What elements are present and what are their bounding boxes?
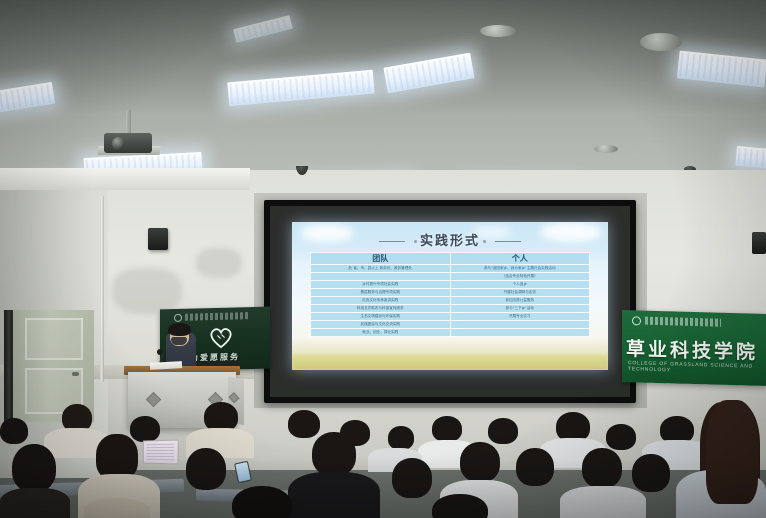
title-dot-left xyxy=(414,240,417,243)
cell-individual: 开展专业实习 xyxy=(450,313,590,321)
audience-shoulders xyxy=(288,472,380,518)
audience-head xyxy=(84,498,150,518)
cell-team: 科技支农助农与科普宣传服务 xyxy=(311,305,451,313)
title-dot-right xyxy=(483,240,486,243)
audience-smartphone[interactable] xyxy=(234,461,252,483)
presenter-hair xyxy=(168,323,191,336)
cell-team: 乡村振兴专项社会实践 xyxy=(311,281,451,289)
slide-title-text: 实践形式 xyxy=(420,234,480,249)
cell-individual: 个人返乡 xyxy=(450,281,590,289)
university-seal-icon xyxy=(632,316,641,325)
projection-screen-frame: 实践形式 团队 个人 赴 省、市、县以上 政务处、政务管理处 参与"返回家乡、我… xyxy=(264,200,636,403)
banner-left-org-logo xyxy=(174,312,252,322)
wall-stain xyxy=(112,268,182,314)
microphone-icon xyxy=(157,349,163,355)
slide-table-head: 团队 个人 xyxy=(311,253,590,265)
audience-head xyxy=(392,458,432,498)
audience-head xyxy=(186,448,226,490)
audience-head xyxy=(432,416,462,442)
audience-head xyxy=(130,416,160,442)
table-header-row: 团队 个人 xyxy=(311,253,590,265)
lecture-hall-scene: 实践形式 团队 个人 赴 省、市、县以上 政务处、政务管理处 参与"返回家乡、我… xyxy=(0,0,766,518)
banner-left-org-text xyxy=(185,312,249,321)
seated-audience xyxy=(0,398,766,518)
cell-individual: 参加志愿公益服务 xyxy=(450,297,590,305)
wall-soffit xyxy=(0,168,250,190)
title-dash-left xyxy=(379,241,405,242)
wall-speaker xyxy=(148,228,168,250)
audience-head xyxy=(388,426,414,450)
audience-head xyxy=(606,424,636,450)
college-banner: 草业科技学院 COLLEGE OF GRASSLAND SCIENCE AND … xyxy=(622,310,766,386)
ceiling-dome-fixture xyxy=(640,33,682,51)
cell-individual: 参与"三下乡"活动 xyxy=(450,305,590,313)
college-banner-subtext: COLLEGE OF GRASSLAND SCIENCE AND TECHNOL… xyxy=(628,360,766,376)
cell-team: 赴 省、市、县以上 政务处、政务管理处 xyxy=(311,265,451,273)
cell-team xyxy=(311,273,451,281)
heart-hands-icon xyxy=(208,326,234,350)
audience-head xyxy=(516,448,554,486)
projection-screen-surface: 实践形式 团队 个人 赴 省、市、县以上 政务处、政务管理处 参与"返回家乡、我… xyxy=(270,206,630,397)
wall-stain xyxy=(196,248,242,278)
audience-shoulders xyxy=(0,488,70,518)
audience-head xyxy=(706,400,758,504)
university-seal-icon xyxy=(174,314,182,322)
table-row: 红色文化传承宣讲实践 参加志愿公益服务 xyxy=(311,297,590,305)
cell-individual: （结合专业特色开展） xyxy=(450,273,590,281)
table-row: 就业、创业、择业实践 xyxy=(311,329,590,337)
wall-speaker xyxy=(752,232,766,254)
cell-individual: 参与"返回家乡、我为家乡"主题社会实践活动 xyxy=(450,265,590,273)
table-row: 乡村振兴专项社会实践 个人返乡 xyxy=(311,281,590,289)
audience-head xyxy=(432,494,488,518)
college-banner-org-text xyxy=(645,317,721,327)
audience-laptop[interactable] xyxy=(143,439,179,464)
door-panel xyxy=(25,318,83,360)
column-header-individual: 个人 xyxy=(450,253,590,265)
cell-team: 红色文化传承宣讲实践 xyxy=(311,297,451,305)
ceiling-dome-fixture xyxy=(594,145,618,153)
cell-individual xyxy=(450,329,590,337)
audience-head xyxy=(232,486,292,518)
cell-team: 生态文明建设与环保实践 xyxy=(311,313,451,321)
title-dash-right xyxy=(495,241,521,242)
table-row: （结合专业特色开展） xyxy=(311,273,590,281)
audience-head xyxy=(312,432,356,476)
slide-table: 团队 个人 赴 省、市、县以上 政务处、政务管理处 参与"返回家乡、我为家乡"主… xyxy=(310,252,590,337)
audience-head xyxy=(582,448,622,488)
cell-team: 基层服务与治理专项实践 xyxy=(311,289,451,297)
ceiling-dome-fixture xyxy=(480,25,516,37)
door-handle[interactable] xyxy=(72,372,79,376)
slide-title: 实践形式 xyxy=(292,230,608,249)
presenter-face-mask xyxy=(171,337,187,345)
table-row: 生态文明建设与环保实践 开展专业实习 xyxy=(311,313,590,321)
projector-lens-icon xyxy=(112,137,125,150)
table-row: 科技支农助农与科普宣传服务 参与"三下乡"活动 xyxy=(311,305,590,313)
audience-head xyxy=(632,454,670,492)
column-header-team: 团队 xyxy=(311,253,451,265)
projected-slide: 实践形式 团队 个人 赴 省、市、县以上 政务处、政务管理处 参与"返回家乡、我… xyxy=(292,222,608,370)
table-row: 民族团结与文化交流实践 xyxy=(311,321,590,329)
audience-head xyxy=(0,418,28,444)
cell-individual xyxy=(450,321,590,329)
audience-head xyxy=(288,410,320,438)
audience-head xyxy=(460,442,500,482)
slide-table-body: 赴 省、市、县以上 政务处、政务管理处 参与"返回家乡、我为家乡"主题社会实践活… xyxy=(311,265,590,337)
cell-team: 民族团结与文化交流实践 xyxy=(311,321,451,329)
audience-shoulders xyxy=(560,486,646,518)
table-row: 赴 省、市、县以上 政务处、政务管理处 参与"返回家乡、我为家乡"主题社会实践活… xyxy=(311,265,590,273)
slide-grassland-strip xyxy=(292,354,608,370)
cell-individual: 开展社会调研与走访 xyxy=(450,289,590,297)
audience-head xyxy=(488,418,518,444)
audience-head xyxy=(12,444,56,492)
table-row: 基层服务与治理专项实践 开展社会调研与走访 xyxy=(311,289,590,297)
wall-conduit-pipe xyxy=(100,196,104,382)
cell-team: 就业、创业、择业实践 xyxy=(311,329,451,337)
